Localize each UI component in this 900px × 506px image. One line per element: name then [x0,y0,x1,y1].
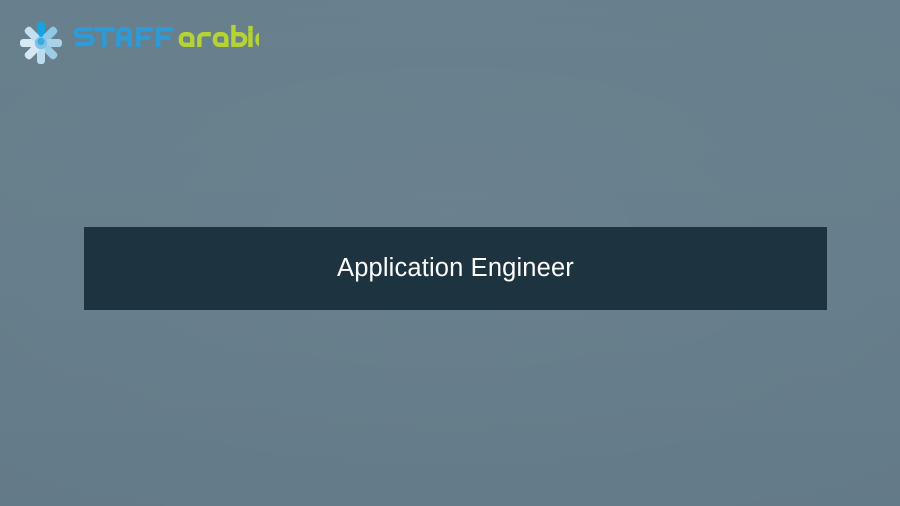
logo-wordmark [73,20,259,66]
page-title: Application Engineer [337,256,574,282]
staffarabia-logo[interactable] [18,20,259,66]
logo-wordmark-text [73,20,259,54]
slide: Application Engineer [0,0,900,506]
title-panel: Application Engineer [84,227,827,310]
snowflake-flower-icon [18,20,64,66]
